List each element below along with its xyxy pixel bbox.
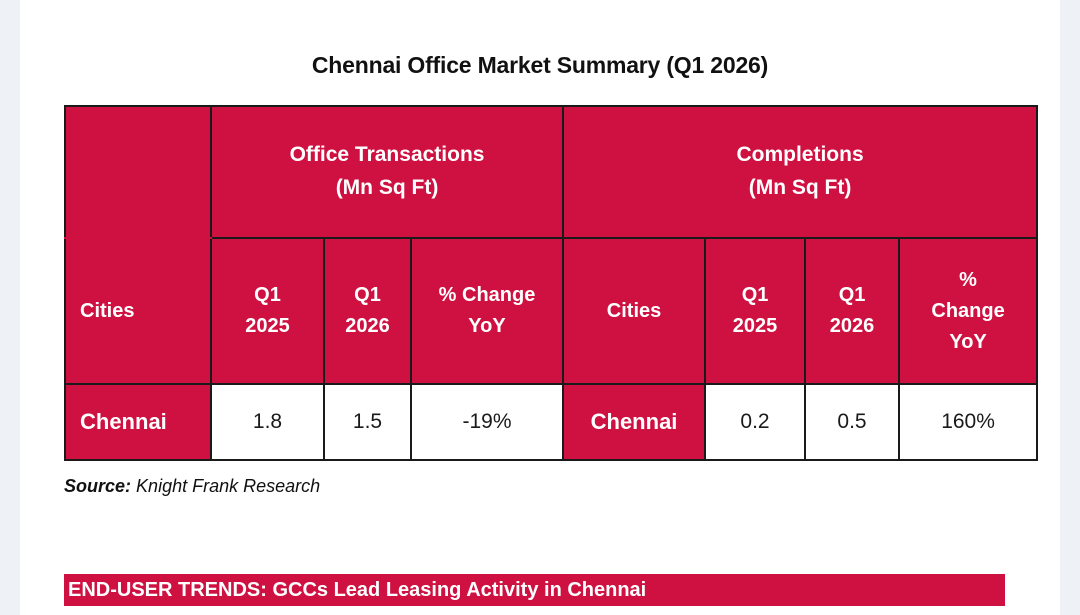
column-header-cm-cities: Cities [563,238,705,384]
column-header-ot-q1-2026-line1: Q1 [331,280,404,311]
source-label: Source: [64,476,131,496]
source-value: Knight Frank Research [136,476,320,496]
column-header-cm-pct-change-yoy-line2: Change [906,296,1030,327]
column-header-ot-q1-2025-line2: 2025 [218,311,317,342]
cell-cm-city: Chennai [563,384,705,460]
group-header-completions-line2: (Mn Sq Ft) [564,172,1036,205]
column-header-cm-q1-2025-line2: 2025 [712,311,798,342]
group-header-completions-line1: Completions [564,139,1036,172]
cell-ot-q1-2026: 1.5 [324,384,411,460]
column-header-cm-cities-line1: Cities [570,296,698,327]
group-header-blank [65,106,211,238]
report-page: Chennai Office Market Summary (Q1 2026) … [20,0,1060,615]
column-header-ot-q1-2025-line1: Q1 [218,280,317,311]
column-header-cm-q1-2026-line1: Q1 [812,280,892,311]
column-header-ot-pct-change-yoy: % Change YoY [411,238,563,384]
section-banner: END-USER TRENDS: GCCs Lead Leasing Activ… [64,574,1005,606]
group-header-office-transactions-line2: (Mn Sq Ft) [212,172,562,205]
group-header-completions: Completions (Mn Sq Ft) [563,106,1037,238]
column-header-ot-q1-2025: Q1 2025 [211,238,324,384]
cell-cm-q1-2026: 0.5 [805,384,899,460]
cell-cm-pct-change-yoy: 160% [899,384,1037,460]
market-summary-table: Office Transactions (Mn Sq Ft) Completio… [64,105,1038,461]
cell-ot-q1-2025: 1.8 [211,384,324,460]
group-header-office-transactions-line1: Office Transactions [212,139,562,172]
source-note: Source: Knight Frank Research [64,476,320,497]
cell-ot-pct-change-yoy: -19% [411,384,563,460]
group-header-office-transactions: Office Transactions (Mn Sq Ft) [211,106,563,238]
column-header-cm-pct-change-yoy-line3: YoY [906,327,1030,358]
page-title: Chennai Office Market Summary (Q1 2026) [20,52,1060,79]
column-header-ot-cities-line1: Cities [80,296,204,327]
column-header-ot-pct-change-yoy-line2: YoY [418,311,556,342]
table-column-header-row: Cities Q1 2025 Q1 2026 % Change YoY Citi… [65,238,1037,384]
table-row: Chennai 1.8 1.5 -19% Chennai 0.2 0.5 160… [65,384,1037,460]
column-header-ot-q1-2026: Q1 2026 [324,238,411,384]
column-header-ot-q1-2026-line2: 2026 [331,311,404,342]
column-header-ot-pct-change-yoy-line1: % Change [418,280,556,311]
column-header-cm-q1-2025-line1: Q1 [712,280,798,311]
column-header-cm-pct-change-yoy: % Change YoY [899,238,1037,384]
column-header-cm-pct-change-yoy-line1: % [906,265,1030,296]
column-header-cm-q1-2025: Q1 2025 [705,238,805,384]
cell-ot-city: Chennai [65,384,211,460]
column-header-cm-q1-2026-line2: 2026 [812,311,892,342]
column-header-cm-q1-2026: Q1 2026 [805,238,899,384]
table-group-header-row: Office Transactions (Mn Sq Ft) Completio… [65,106,1037,238]
cell-cm-q1-2025: 0.2 [705,384,805,460]
column-header-ot-cities: Cities [65,238,211,384]
